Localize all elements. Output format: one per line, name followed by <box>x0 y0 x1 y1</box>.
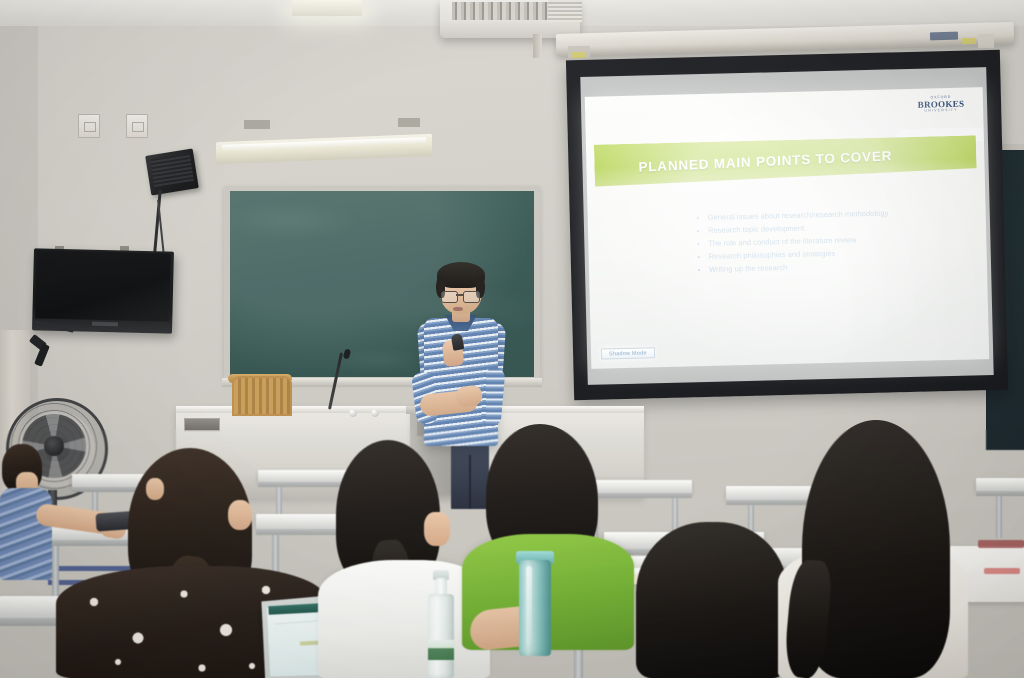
ceiling-light <box>292 0 362 16</box>
wooden-chair <box>232 376 292 416</box>
glasses-icon <box>441 291 458 303</box>
student-white-tee-neck <box>424 512 450 546</box>
slide-title: PLANNED MAIN POINTS TO COVER <box>594 148 892 177</box>
red-item <box>984 568 1020 574</box>
projected-slide: OXFORD BROOKES UNIVERSITY PLANNED MAIN P… <box>585 87 990 369</box>
slide-bullets-ul: General issues about research/research m… <box>698 206 949 276</box>
screen-sticker-left <box>572 52 586 58</box>
platform-knob <box>349 409 357 417</box>
lecturer-leg-seam <box>469 455 471 509</box>
classroom-photo: OXFORD BROOKES UNIVERSITY PLANNED MAIN P… <box>0 0 1024 678</box>
water-bottle-teal <box>519 560 551 656</box>
glasses-bridge <box>456 294 463 296</box>
platform-knob <box>371 409 379 417</box>
desk-leg <box>996 496 1002 538</box>
tv-screen <box>35 250 171 321</box>
oxford-brookes-logo: OXFORD BROOKES UNIVERSITY <box>909 95 974 123</box>
classroom-desk <box>976 478 1024 491</box>
board-light-arm <box>398 118 420 127</box>
slide-footer-badge: Shadow Mode <box>601 347 655 359</box>
tv-brand-mark <box>92 322 118 327</box>
slide-title-banner: PLANNED MAIN POINTS TO COVER <box>594 135 977 186</box>
screen-housing-label <box>930 32 958 41</box>
red-strap <box>978 540 1024 548</box>
fan-hub <box>44 436 64 456</box>
water-bottle-label <box>428 640 454 660</box>
screen-sticker-right <box>962 38 976 44</box>
student-left-blue-top <box>0 488 52 580</box>
desk-leg <box>52 546 59 598</box>
screen-bracket-right <box>978 34 994 48</box>
tumbler-highlight <box>526 566 532 646</box>
water-bottle-clear <box>428 594 454 678</box>
student-floral-neck <box>228 500 252 530</box>
wall-switch-icon <box>126 114 148 138</box>
glasses-icon <box>463 291 480 303</box>
projector-mount <box>533 34 542 58</box>
wall-outlet-icon <box>78 114 100 138</box>
student-back-row-hair <box>636 522 788 678</box>
board-light-arm <box>244 120 270 129</box>
slide-bullet-list: General issues about research/research m… <box>698 206 950 277</box>
lecturer-mouth <box>453 307 463 311</box>
student-floral-ear <box>146 478 164 500</box>
platform-plaque <box>184 418 220 431</box>
projector-vent <box>548 0 582 22</box>
logo-line-3: UNIVERSITY <box>909 109 973 114</box>
